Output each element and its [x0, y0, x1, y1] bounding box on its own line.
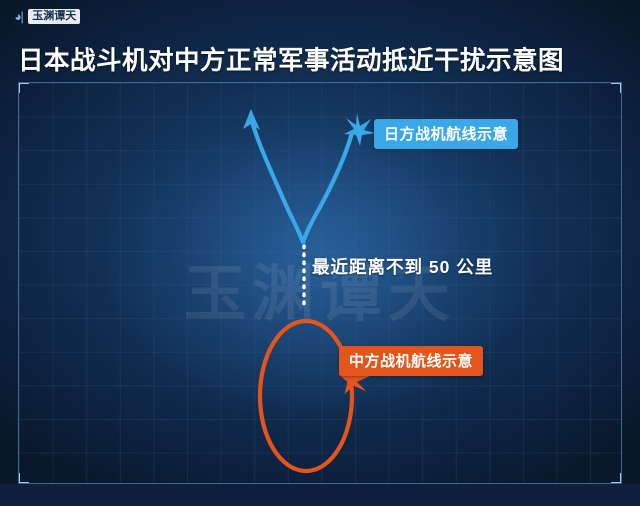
- label-closest-distance: 最近距离不到 50 公里: [312, 254, 493, 279]
- page-title: 日本战斗机对中方正常军事活动抵近干扰示意图: [18, 40, 622, 77]
- logo-glyph-icon: ◕|: [14, 9, 22, 24]
- china-route-path: [260, 321, 352, 471]
- bottom-bar: [0, 484, 640, 506]
- label-china-route: 中方战机航线示意: [339, 346, 483, 376]
- route-diagram: [19, 83, 622, 484]
- infographic-root: ◕| 玉渊谭天 日本战斗机对中方正常军事活动抵近干扰示意图 玉渊谭天: [0, 0, 640, 506]
- diagram-panel: 玉渊谭天 日方战机航线示意 中方战机航线示意 最近距离不到 50 公里: [18, 82, 622, 484]
- label-japan-route: 日方战机航线示意: [374, 119, 518, 149]
- japan-route-path: [251, 118, 352, 243]
- logo-text: 玉渊谭天: [28, 9, 80, 24]
- site-logo[interactable]: ◕| 玉渊谭天: [14, 9, 80, 24]
